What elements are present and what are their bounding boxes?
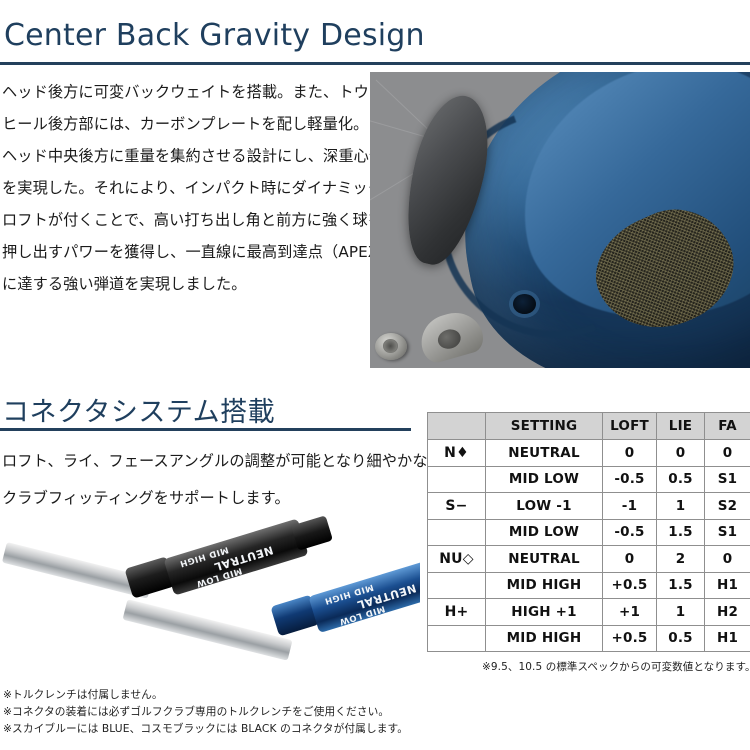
section-two-title: コネクタシステム搭載 [2,390,275,429]
connector-sleeves-image: MID HIGH NEUTRAL MID LOW MID HIGH NEUTRA… [0,512,420,680]
cell-lie: 1 [657,493,705,520]
section-one-body: ヘッド後方に可変バックウェイトを搭載。また、トウ・ ヒール後方部には、カーボンプ… [2,76,368,300]
cell-fa: H1 [705,625,750,652]
body-line: ロフト、ライ、フェースアングルの調整が可能となり細やかな [2,443,402,480]
cell-fa: H1 [705,572,750,599]
cell-fa: H2 [705,599,750,626]
weight-screw-part [375,333,407,360]
cell-fa: S1 [705,466,750,493]
cell-loft: -1 [603,493,657,520]
col-header-code [428,413,486,440]
cell-setting: MID HIGH [486,572,603,599]
cell-fa: S2 [705,493,750,520]
cell-lie: 1.5 [657,572,705,599]
cell-code [428,466,486,493]
driver-head-render-image [370,72,750,368]
table-row: MID HIGH +0.5 1.5 H1 [428,572,750,599]
table-row: H+ HIGH +1 +1 1 H2 [428,599,750,626]
col-header-lie: LIE [657,413,705,440]
body-line: ヒール後方部には、カーボンプレートを配し軽量化。 [2,108,368,140]
cell-loft: 0 [603,546,657,573]
cell-setting: LOW -1 [486,493,603,520]
cell-fa: 0 [705,440,750,467]
section-two-divider [0,428,411,431]
body-line: ヘッド後方に可変バックウェイトを搭載。また、トウ・ [2,76,368,108]
col-header-setting: SETTING [486,413,603,440]
cell-fa: S1 [705,519,750,546]
body-line: 押し出すパワーを獲得し、一直線に最高到達点（APEX） [2,236,368,268]
footnote-line: ※トルクレンチは付属しません。 [3,686,523,703]
table-row: S− LOW -1 -1 1 S2 [428,493,750,520]
cell-code: H+ [428,599,486,626]
setting-spec-table: SETTING LOFT LIE FA N♦ NEUTRAL 0 0 0 MID… [427,412,750,652]
cell-loft: +0.5 [603,572,657,599]
cell-setting: MID HIGH [486,625,603,652]
body-line: ロフトが付くことで、高い打ち出し角と前方に強く球を [2,204,368,236]
cell-loft: -0.5 [603,519,657,546]
sleeve-black: MID HIGH NEUTRAL MID LOW [164,518,309,595]
table-header-row: SETTING LOFT LIE FA [428,413,750,440]
cell-loft: 0 [603,440,657,467]
cell-fa: 0 [705,546,750,573]
cell-code: N♦ [428,440,486,467]
cell-code [428,572,486,599]
cell-code [428,625,486,652]
body-line: に達する強い弾道を実現しました。 [2,268,368,300]
body-line: ヘッド中央後方に重量を集約させる設計にし、深重心化 [2,140,368,172]
cell-lie: 1.5 [657,519,705,546]
cell-setting: NEUTRAL [486,440,603,467]
cell-code [428,519,486,546]
footnote-line: ※コネクタの装着には必ずゴルフクラブ専用のトルクレンチをご使用ください。 [3,703,523,720]
table-footnote: ※9.5、10.5 の標準スペックからの可変数値となります。 [482,659,750,674]
table-row: MID LOW -0.5 0.5 S1 [428,466,750,493]
col-header-loft: LOFT [603,413,657,440]
cell-lie: 0.5 [657,625,705,652]
cell-lie: 0.5 [657,466,705,493]
table-row: MID LOW -0.5 1.5 S1 [428,519,750,546]
cell-setting: HIGH +1 [486,599,603,626]
cell-lie: 0 [657,440,705,467]
col-header-fa: FA [705,413,750,440]
weight-port [513,294,536,314]
section-two-body: ロフト、ライ、フェースアングルの調整が可能となり細やかな クラブフィッティングを… [2,443,402,517]
cell-setting: NEUTRAL [486,546,603,573]
sleeve-blue: MID HIGH NEUTRAL MID LOW [308,557,420,633]
table-row: NU◇ NEUTRAL 0 2 0 [428,546,750,573]
product-feature-page: Center Back Gravity Design ヘッド後方に可変バックウェ… [0,0,750,750]
page-title: Center Back Gravity Design [4,18,425,53]
footnote-line: ※スカイブルーには BLUE、コスモブラックには BLACK のコネクタが付属し… [3,720,523,737]
body-line: を実現した。それにより、インパクト時にダイナミック [2,172,368,204]
cell-lie: 2 [657,546,705,573]
cell-setting: MID LOW [486,466,603,493]
cell-code: NU◇ [428,546,486,573]
table-row: N♦ NEUTRAL 0 0 0 [428,440,750,467]
cell-loft: +0.5 [603,625,657,652]
table-row: MID HIGH +0.5 0.5 H1 [428,625,750,652]
cell-setting: MID LOW [486,519,603,546]
cell-loft: +1 [603,599,657,626]
cell-lie: 1 [657,599,705,626]
title-divider [0,62,750,65]
page-footnotes: ※トルクレンチは付属しません。 ※コネクタの装着には必ずゴルフクラブ専用のトルク… [3,686,523,737]
cell-code: S− [428,493,486,520]
cell-loft: -0.5 [603,466,657,493]
shaft-blue [123,599,293,661]
